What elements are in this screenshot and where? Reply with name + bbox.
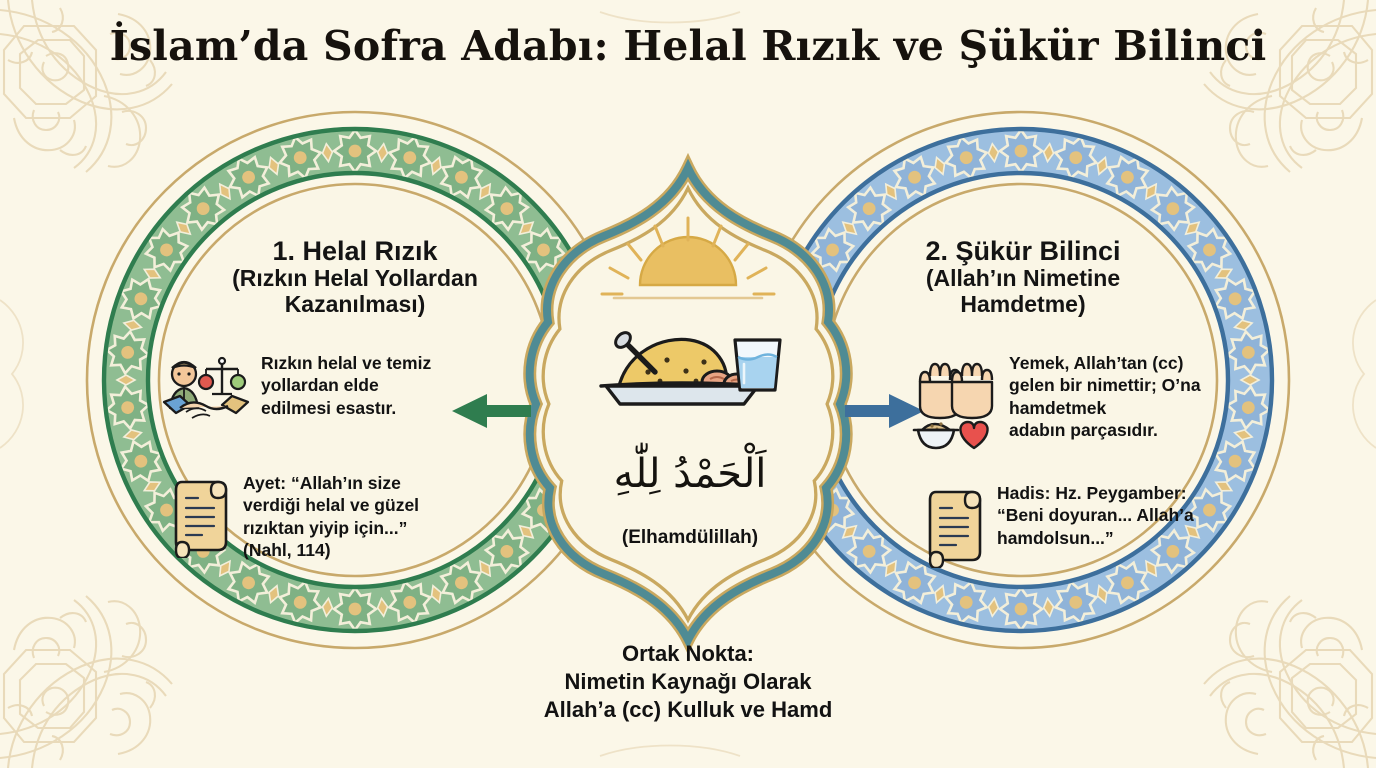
left-item-2-line4: (Nahl, 114) <box>243 540 331 560</box>
left-item-2-text: Ayet: “Allah’ın size verdiği helal ve gü… <box>243 472 419 562</box>
left-circle-heading: 1. Helal Rızık (Rızkın Helal Yollardan K… <box>175 236 535 318</box>
page-title: İslam’da Sofra Adabı: Helal Rızık ve Şük… <box>0 22 1376 70</box>
right-heading-line2: (Allah’ın Nimetine <box>845 266 1201 292</box>
right-item-2-text: Hadis: Hz. Peygamber: “Beni doyuran... A… <box>997 482 1194 549</box>
handshake-scales-icon <box>160 352 252 431</box>
arrow-left-icon <box>452 394 531 428</box>
right-item-1-text: Yemek, Allah’tan (cc) gelen bir nimettir… <box>1009 352 1201 442</box>
left-heading-line3: Kazanılması) <box>175 292 535 318</box>
glass-of-water-icon <box>735 340 780 390</box>
left-item-1: Rızkın helal ve temiz yollardan elde edi… <box>160 352 460 431</box>
bottom-caption: Ortak Nokta: Nimetin Kaynağı Olarak Alla… <box>388 640 988 724</box>
right-item-1: Yemek, Allah’tan (cc) gelen bir nimettir… <box>912 352 1222 461</box>
arabic-calligraphy: اَلْحَمْدُ لِلّٰهِ <box>556 452 824 496</box>
left-item-1-line3: edilmesi esastır. <box>261 398 396 418</box>
right-item-1-line4: adabın parçasıdır. <box>1009 420 1158 440</box>
left-heading-line1: 1. Helal Rızık <box>175 236 535 266</box>
right-circle-heading: 2. Şükür Bilinci (Allah’ın Nimetine Hamd… <box>845 236 1201 318</box>
scroll-icon <box>926 482 988 573</box>
transliteration-label: (Elhamdülillah) <box>556 527 824 549</box>
praying-hands-bowl-heart-icon <box>912 352 1000 461</box>
left-item-2-line3: rızıktan yiyip için...” <box>243 518 407 538</box>
right-item-1-line1: Yemek, Allah’tan (cc) <box>1009 353 1183 373</box>
left-item-1-line2: yollardan elde <box>261 375 379 395</box>
left-item-2-line2: verdiği helal ve güzel <box>243 495 419 515</box>
right-heading-line3: Hamdetme) <box>845 292 1201 318</box>
scroll-icon <box>172 472 234 563</box>
right-item-2-line3: hamdolsun...” <box>997 528 1114 548</box>
left-item-1-text: Rızkın helal ve temiz yollardan elde edi… <box>261 352 431 419</box>
infographic-canvas: İslam’da Sofra Adabı: Helal Rızık ve Şük… <box>0 0 1376 768</box>
right-heading-line1: 2. Şükür Bilinci <box>845 236 1201 266</box>
right-item-2-line2: “Beni doyuran... Allah’a <box>997 505 1194 525</box>
bottom-caption-line1: Ortak Nokta: <box>388 640 988 668</box>
bottom-caption-line2: Nimetin Kaynağı Olarak <box>388 668 988 696</box>
right-item-2: Hadis: Hz. Peygamber: “Beni doyuran... A… <box>926 482 1226 573</box>
right-item-1-line2: gelen bir nimettir; O’na <box>1009 375 1201 395</box>
left-item-1-line1: Rızkın helal ve temiz <box>261 353 431 373</box>
right-item-1-line3: hamdetmek <box>1009 398 1106 418</box>
left-item-2: Ayet: “Allah’ın size verdiği helal ve gü… <box>172 472 472 563</box>
left-item-2-line1: Ayet: “Allah’ın size <box>243 473 401 493</box>
bottom-caption-line3: Allah’a (cc) Kulluk ve Hamd <box>388 696 988 724</box>
right-item-2-line1: Hadis: Hz. Peygamber: <box>997 483 1187 503</box>
left-heading-line2: (Rızkın Helal Yollardan <box>175 266 535 292</box>
